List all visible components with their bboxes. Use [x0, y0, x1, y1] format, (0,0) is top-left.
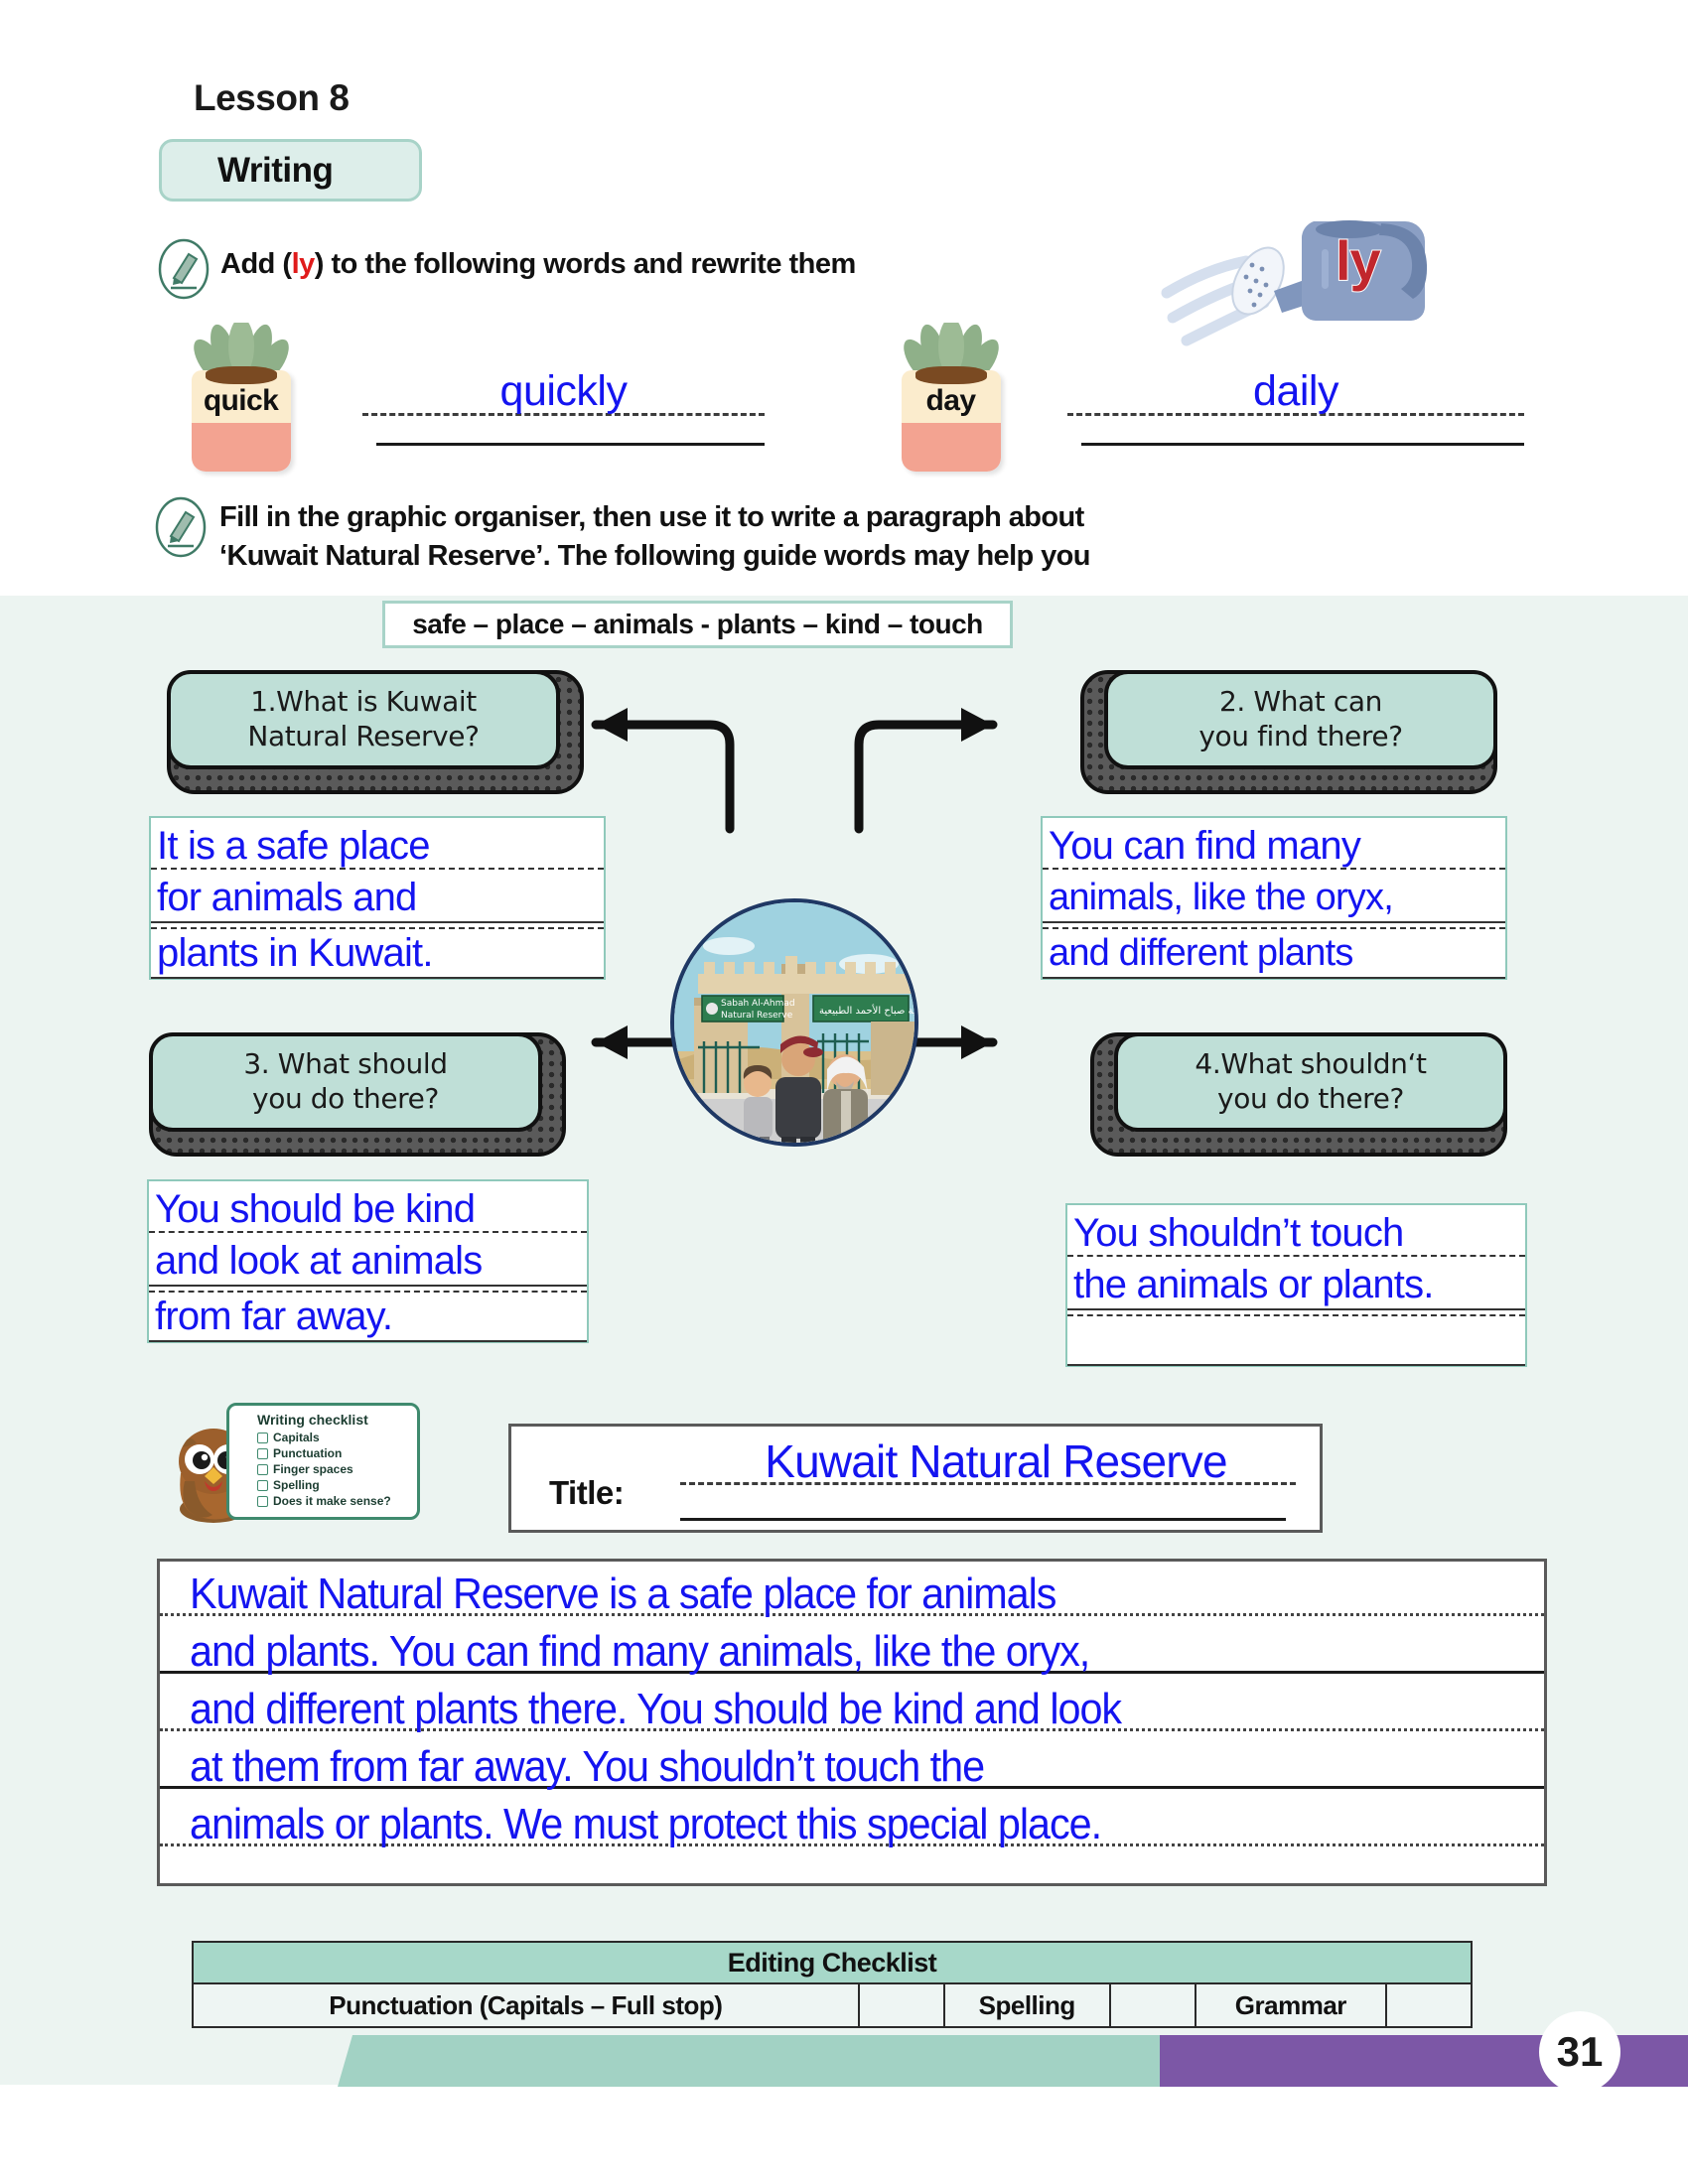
checkbox-spelling[interactable] [257, 1480, 268, 1491]
answer-4-line2: the animals or plants. [1073, 1261, 1523, 1309]
question-box-4: 4.What shouldn‘t you do there? [1090, 1032, 1507, 1157]
checklist-label-capitals: Capitals [273, 1431, 320, 1444]
checkbox-capitals[interactable] [257, 1433, 268, 1443]
task-1-instruction-rest: ) to the following words and rewrite the… [315, 248, 856, 280]
cell-grammar-tick[interactable] [1386, 1983, 1472, 2027]
plant-pot-quick: quick [164, 323, 318, 472]
watering-can-icon: ly [1147, 174, 1465, 347]
question-2-line2: you find there? [1198, 720, 1402, 754]
checklist-item-punctuation[interactable]: Punctuation [257, 1446, 411, 1460]
answer-2-line1: You can find many [1049, 822, 1503, 871]
checklist-label-spelling: Spelling [273, 1478, 320, 1492]
question-1-line2: Natural Reserve? [247, 720, 479, 754]
answer-day: daily [1067, 367, 1524, 416]
svg-text:محمية صباح الأحمد الطبيعية: محمية صباح الأحمد الطبيعية [819, 1004, 918, 1017]
answer-4-line1: You shouldn’t touch [1073, 1209, 1523, 1258]
writing-checklist-title: Writing checklist [257, 1412, 411, 1428]
checklist-label-punctuation: Punctuation [273, 1446, 342, 1460]
lesson-title: Lesson 8 [194, 77, 349, 119]
watering-can-ly-label: ly [1336, 228, 1380, 293]
plant-pot-day-label: day [874, 384, 1028, 418]
writing-checklist-card: Writing checklist Capitals Punctuation F… [226, 1403, 420, 1520]
answer-box-4[interactable]: You shouldn’t touch the animals or plant… [1065, 1203, 1527, 1367]
cell-spelling-tick[interactable] [1110, 1983, 1196, 2027]
paragraph-line-4: at them from far away. You shouldn’t tou… [190, 1742, 1454, 1792]
plant-pot-quick-label: quick [164, 384, 318, 418]
paragraph-line-2: and plants. You can find many animals, l… [190, 1627, 1454, 1677]
pencil-badge-icon [154, 496, 208, 563]
reserve-gate-photo: Sabah Al-Ahmad Natural Reserve محمية صبا… [670, 898, 918, 1147]
task-1-suffix-ly: ly [292, 248, 315, 280]
answer-2-line2: animals, like the oryx, [1049, 874, 1503, 922]
answer-box-3[interactable]: You should be kind and look at animals f… [147, 1179, 589, 1343]
checklist-label-finger-spaces: Finger spaces [273, 1462, 353, 1476]
answer-quick: quickly [362, 367, 765, 416]
pencil-badge-icon [157, 238, 211, 305]
svg-text:Natural Reserve: Natural Reserve [721, 1011, 793, 1021]
title-value: Kuwait Natural Reserve [688, 1434, 1304, 1488]
answer-slot-day[interactable]: daily [1067, 367, 1524, 439]
answer-3-line3: from far away. [155, 1293, 585, 1341]
svg-text:Sabah Al-Ahmad: Sabah Al-Ahmad [721, 999, 795, 1009]
table-row-header: Editing Checklist [193, 1942, 1472, 1983]
checklist-item-finger-spaces[interactable]: Finger spaces [257, 1462, 411, 1476]
question-4-line1: 4.What shouldn‘t [1195, 1047, 1426, 1082]
cell-punctuation: Punctuation (Capitals – Full stop) [193, 1983, 859, 2027]
page-number-badge: 31 [1539, 2011, 1620, 2093]
task-2-instruction: Fill in the graphic organiser, then use … [219, 498, 1090, 575]
task-2-row: Fill in the graphic organiser, then use … [154, 496, 1090, 575]
task-1-row: Add (ly) to the following words and rewr… [157, 238, 856, 305]
table-row: Punctuation (Capitals – Full stop) Spell… [193, 1983, 1472, 2027]
plant-pot-day: day [874, 323, 1028, 472]
paragraph-line-3: and different plants there. You should b… [190, 1685, 1454, 1734]
cell-spelling: Spelling [944, 1983, 1110, 2027]
question-1-line1: 1.What is Kuwait [247, 685, 479, 720]
answer-1-line3: plants in Kuwait. [157, 929, 602, 978]
question-box-3: 3. What should you do there? [149, 1032, 566, 1157]
task-2-instruction-line2: ‘Kuwait Natural Reserve’. The following … [219, 537, 1090, 576]
checklist-label-make-sense: Does it make sense? [273, 1494, 391, 1508]
checklist-item-capitals[interactable]: Capitals [257, 1431, 411, 1444]
checklist-item-make-sense[interactable]: Does it make sense? [257, 1494, 411, 1508]
question-3-line1: 3. What should [243, 1047, 447, 1082]
question-4-line2: you do there? [1195, 1082, 1426, 1117]
cell-grammar: Grammar [1196, 1983, 1386, 2027]
task-2-instruction-line1: Fill in the graphic organiser, then use … [219, 498, 1090, 537]
section-chip-label: Writing [217, 151, 333, 191]
section-chip-writing: Writing [159, 139, 422, 202]
paragraph-line-1: Kuwait Natural Reserve is a safe place f… [190, 1570, 1454, 1619]
title-label: Title: [549, 1474, 624, 1512]
editing-checklist-table: Editing Checklist Punctuation (Capitals … [192, 1941, 1473, 2028]
paragraph-writing-box[interactable]: Kuwait Natural Reserve is a safe place f… [157, 1559, 1547, 1886]
answer-box-2[interactable]: You can find many animals, like the oryx… [1041, 816, 1507, 980]
question-3-line2: you do there? [243, 1082, 447, 1117]
checkbox-punctuation[interactable] [257, 1448, 268, 1459]
checkbox-finger-spaces[interactable] [257, 1464, 268, 1475]
answer-box-1[interactable]: It is a safe place for animals and plant… [149, 816, 606, 980]
question-box-2: 2. What can you find there? [1080, 670, 1497, 794]
title-box[interactable]: Title: Kuwait Natural Reserve [508, 1424, 1323, 1533]
question-2-line1: 2. What can [1198, 685, 1402, 720]
answer-1-line1: It is a safe place [157, 822, 602, 871]
cell-punctuation-tick[interactable] [859, 1983, 944, 2027]
paragraph-line-5: animals or plants. We must protect this … [190, 1800, 1454, 1849]
answer-3-line2: and look at animals [155, 1237, 585, 1286]
task-1-instruction-prefix: Add ( [220, 248, 292, 280]
answer-2-line3: and different plants [1049, 929, 1503, 978]
checkbox-make-sense[interactable] [257, 1496, 268, 1507]
editing-checklist-header: Editing Checklist [193, 1942, 1472, 1983]
answer-1-line2: for animals and [157, 874, 602, 922]
question-box-1: 1.What is Kuwait Natural Reserve? [167, 670, 584, 794]
answer-3-line1: You should be kind [155, 1185, 585, 1234]
task-1-instruction: Add (ly) to the following words and rewr… [220, 248, 856, 281]
answer-slot-quick[interactable]: quickly [362, 367, 765, 439]
checklist-item-spelling[interactable]: Spelling [257, 1478, 411, 1492]
